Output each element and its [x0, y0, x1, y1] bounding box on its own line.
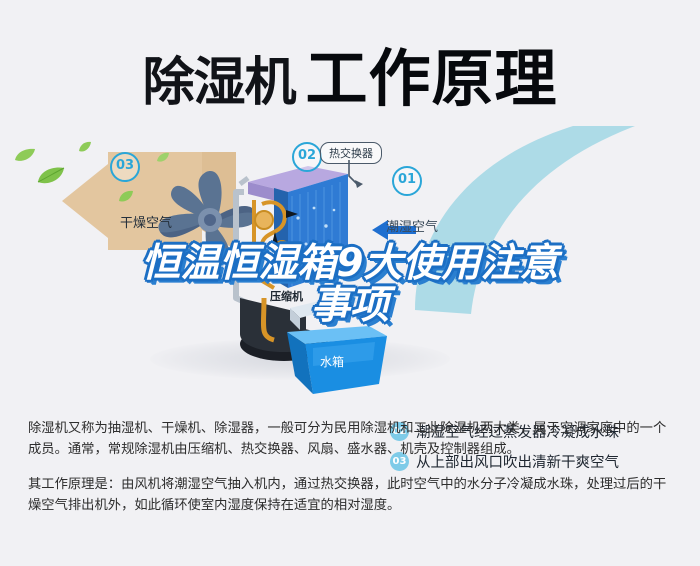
page-title: 除湿机工作原理	[0, 28, 700, 118]
leaf-icon	[78, 140, 92, 158]
diagram-badge-02: 02	[292, 142, 322, 172]
leaf-icon	[156, 150, 170, 168]
leaf-icon	[36, 166, 66, 191]
diagram-badge-03: 03	[110, 152, 140, 182]
dehumidifier-diagram: 03 干燥空气 02 热交换器 01 潮湿空气 压缩机 水箱 02 潮湿空气经过…	[0, 120, 700, 410]
leaf-icon	[14, 148, 36, 168]
page-title-part2: 工作原理	[306, 42, 558, 115]
humid-air-label: 潮湿空气	[386, 216, 438, 235]
infographic-page: 除湿机工作原理	[0, 0, 700, 566]
airflow-swoosh-decoration	[405, 124, 695, 314]
paragraph-1: 除湿机又称为抽湿机、干燥机、除湿器，一般可分为民用除湿机和工业除湿机两大类，属于…	[28, 418, 676, 460]
paragraph-2: 其工作原理是：由风机将潮湿空气抽入机内，通过热交换器，此时空气中的水分子冷凝成水…	[28, 474, 676, 516]
leaf-icon	[118, 190, 134, 208]
diagram-badge-01: 01	[392, 166, 422, 196]
callout-pointer	[347, 160, 349, 184]
water-tank-label: 水箱	[320, 353, 344, 370]
dry-air-label: 干燥空气	[120, 212, 172, 231]
page-title-part1: 除湿机	[142, 53, 295, 113]
body-text: 除湿机又称为抽湿机、干燥机、除湿器，一般可分为民用除湿机和工业除湿机两大类，属于…	[28, 418, 676, 516]
compressor-label: 压缩机	[270, 288, 303, 304]
